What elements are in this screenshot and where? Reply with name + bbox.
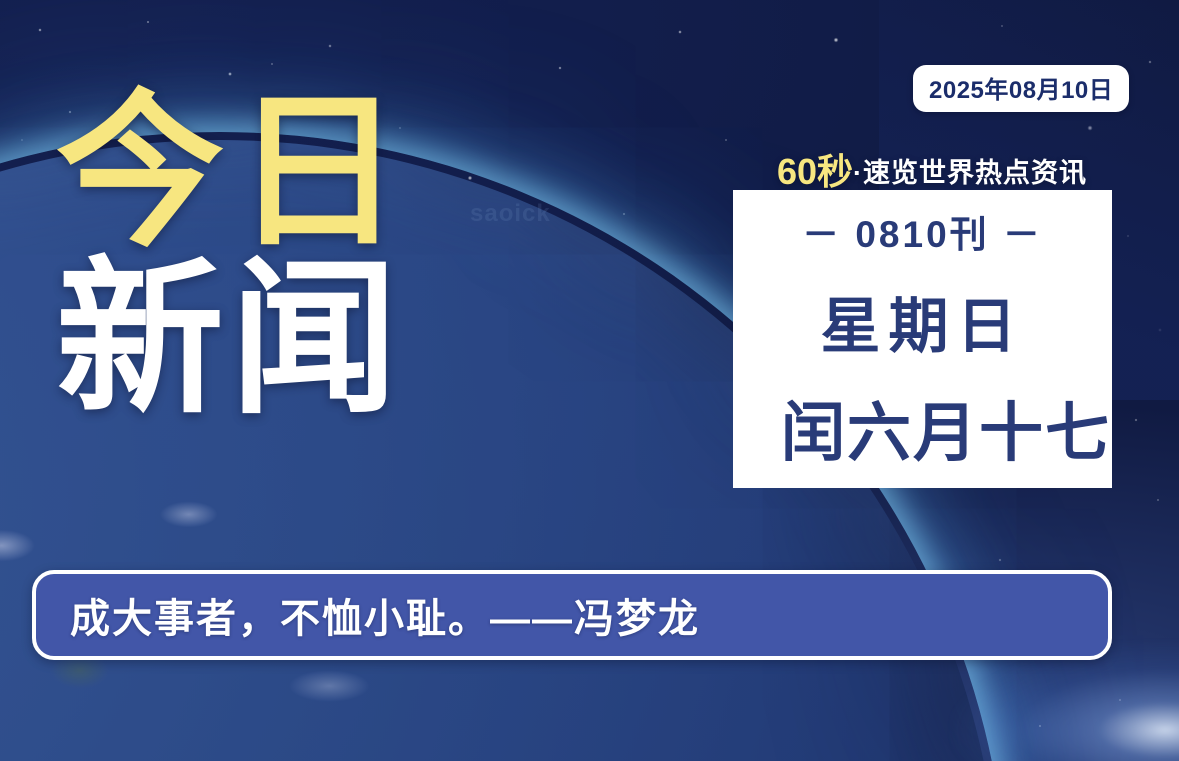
- lunar-date-label: 闰六月十七: [781, 382, 1111, 474]
- tagline: 60秒·速览世界热点资讯: [744, 143, 1120, 195]
- date-badge: 2025年08月10日: [913, 65, 1129, 112]
- issue-number: － 0810刊 －: [802, 204, 1043, 258]
- tagline-description: ·速览世界热点资讯: [853, 158, 1087, 188]
- brand-title-line-1: 今日: [56, 92, 486, 253]
- brand-title-line-2: 新闻: [56, 259, 486, 420]
- quote-bar: 成大事者，不恤小耻。——冯梦龙: [32, 570, 1112, 660]
- quote-text: 成大事者，不恤小耻。——冯梦龙: [36, 586, 700, 644]
- date-info-card: － 0810刊 － 星期日 闰六月十七: [733, 190, 1112, 488]
- news-poster: saoick 今日 新闻 2025年08月10日 60秒·速览世界热点资讯 － …: [0, 0, 1179, 761]
- tagline-seconds: 60秒: [777, 151, 853, 192]
- brand-title: 今日 新闻: [56, 92, 486, 421]
- weekday-label: 星期日: [821, 278, 1025, 365]
